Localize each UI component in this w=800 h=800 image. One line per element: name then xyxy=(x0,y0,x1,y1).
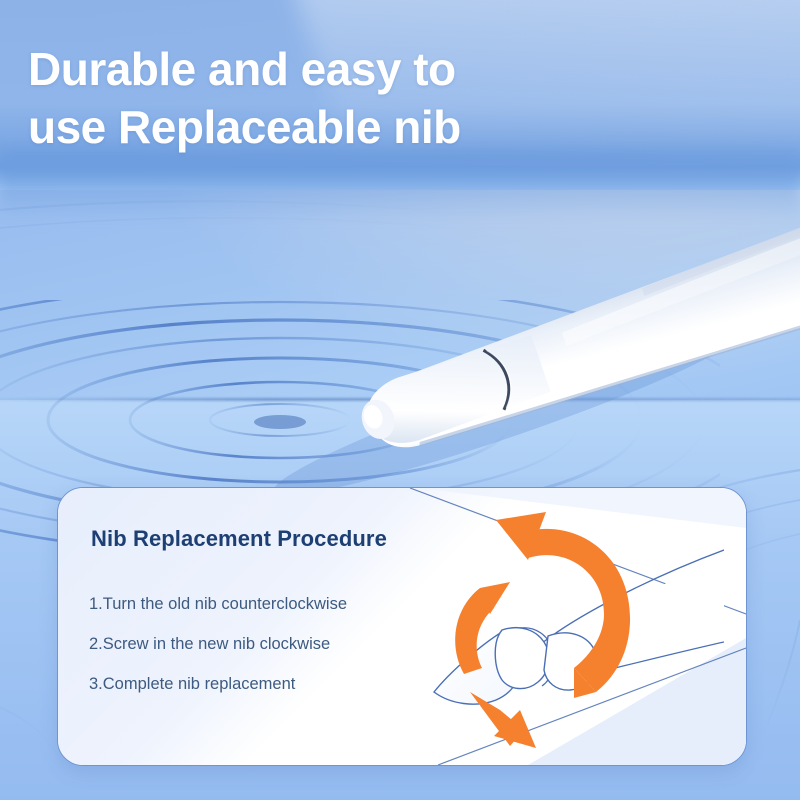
poster-root: Durable and easy to use Replaceable nib xyxy=(0,0,800,800)
headline-line-1: Durable and easy to xyxy=(28,40,548,98)
headline-line-2: use Replaceable nib xyxy=(28,98,548,156)
nib-replacement-card: Nib Replacement Procedure 1.Turn the old… xyxy=(57,487,747,766)
nib-replacement-illustration xyxy=(424,496,724,758)
card-title: Nib Replacement Procedure xyxy=(91,526,387,552)
page-title: Durable and easy to use Replaceable nib xyxy=(28,40,548,156)
clockwise-rotation-arrow xyxy=(470,692,536,748)
